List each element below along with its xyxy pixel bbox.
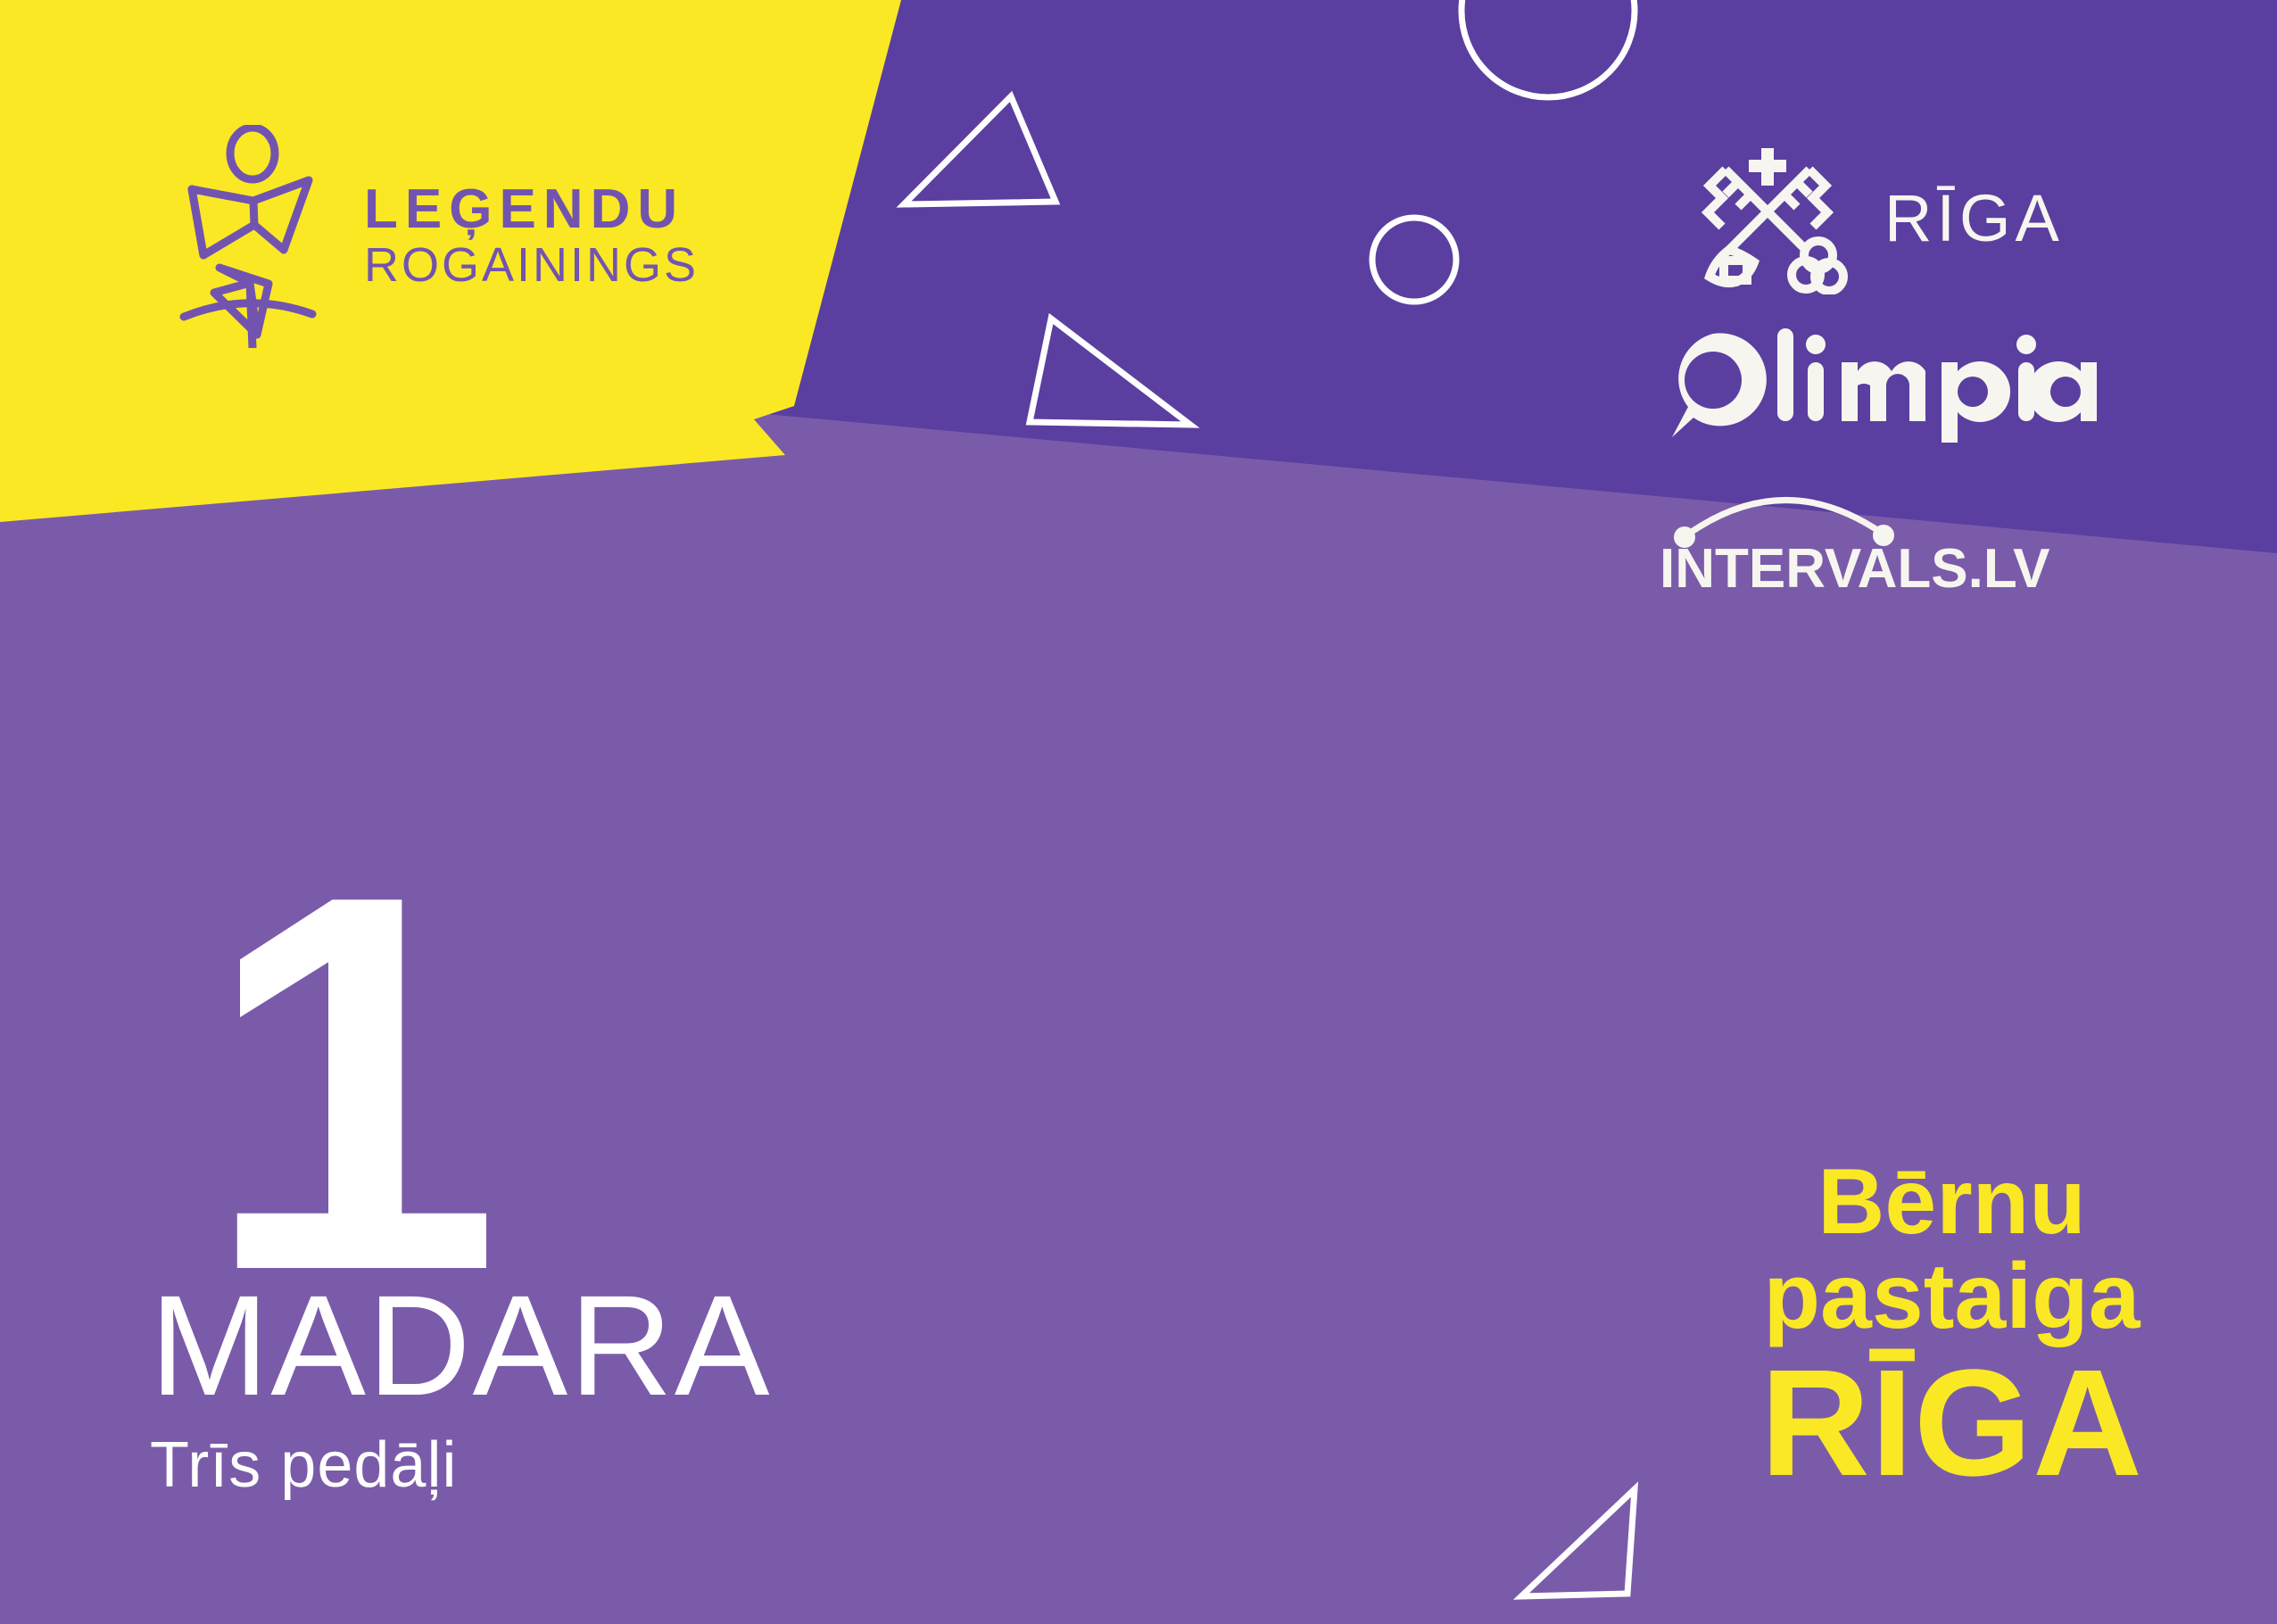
brand-logo: LEĢENDU ROGAININGS	[150, 125, 699, 348]
brand-line-2: ROGAININGS	[364, 238, 699, 292]
brand-line-1: LEĢENDU	[364, 180, 699, 238]
entrant-info: 1 MADARA Trīs pedāļi	[150, 874, 772, 1501]
sponsor-logos: RĪGA	[1652, 143, 2152, 592]
circle-outline-top-right-icon	[1461, 0, 1635, 97]
legendu-rogainings-runner-mark-icon	[150, 125, 328, 348]
circle-outline-small-icon	[1372, 218, 1456, 302]
riga-crossed-keys-coat-of-arms-icon	[1683, 143, 1852, 294]
brand-wordmark: LEĢENDU ROGAININGS	[364, 180, 699, 293]
event-label-line-2: pastaiga	[1760, 1249, 2143, 1344]
event-label: Bērnu pastaiga RĪGA	[1760, 1155, 2143, 1499]
sponsor-olimpia	[1652, 325, 2152, 443]
entrant-name: MADARA	[150, 1272, 772, 1418]
sponsor-intervals: INTERVALS.LV	[1652, 478, 2152, 592]
intervals-wordmark-text: INTERVALS.LV	[1660, 538, 2049, 592]
entrant-subtitle: Trīs pedāļi	[150, 1430, 772, 1501]
triangle-outline-top-left-icon	[904, 96, 1056, 204]
entrant-number: 1	[203, 874, 772, 1292]
sponsor-riga: RĪGA	[1652, 143, 2152, 294]
intervals-arc-mark-icon: INTERVALS.LV	[1652, 478, 2116, 592]
olimpia-wordmark-icon	[1658, 325, 2104, 443]
sponsor-riga-label: RĪGA	[1884, 186, 2064, 252]
intervals-arc	[1686, 500, 1883, 535]
triangle-outline-bottom-right-icon	[1521, 1489, 1635, 1596]
poster-root: LEĢENDU ROGAININGS	[0, 0, 2277, 1624]
event-label-line-1: Bērnu	[1760, 1155, 2143, 1249]
triangle-outline-mid-left-icon	[1030, 319, 1190, 425]
event-label-line-3: RĪGA	[1760, 1347, 2143, 1499]
